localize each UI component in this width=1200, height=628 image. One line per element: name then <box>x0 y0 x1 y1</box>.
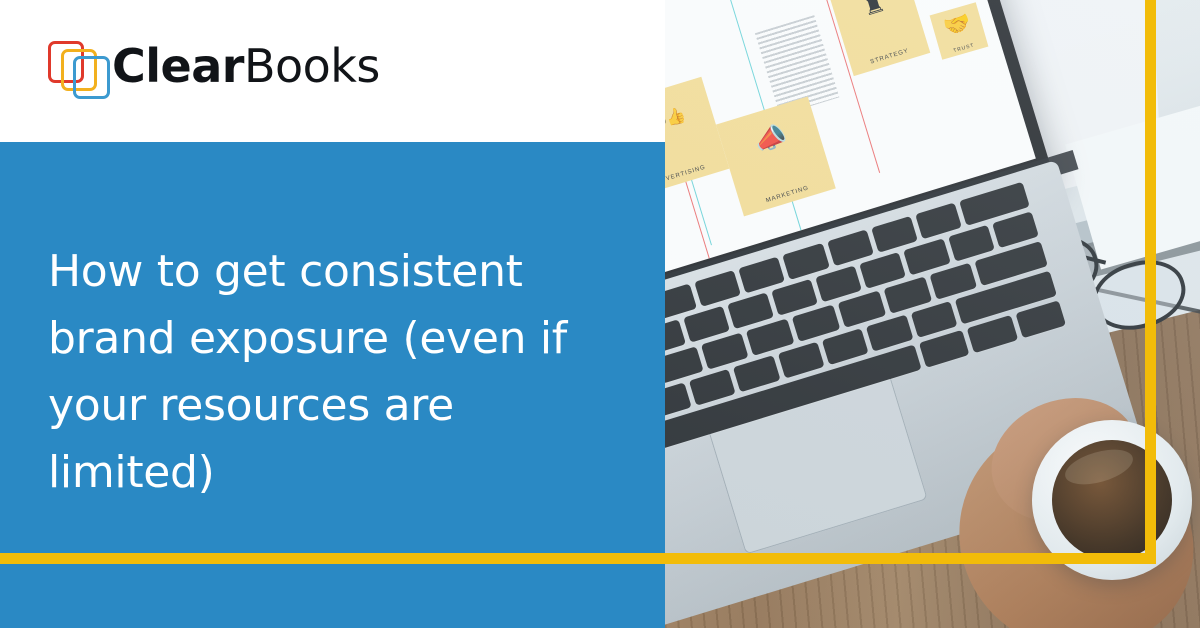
headline-line-1: How to get consistent <box>48 238 628 305</box>
logo-wordmark-primary: Clear <box>112 39 244 93</box>
photo-color-overlay <box>660 0 1200 628</box>
clearbooks-logo[interactable]: ClearBooks <box>42 38 380 94</box>
stacked-cards-logo-icon <box>42 38 104 94</box>
yellow-horizontal-rule <box>0 553 1156 564</box>
logo-wordmark: ClearBooks <box>112 43 380 89</box>
yellow-vertical-rule <box>1145 0 1156 564</box>
header-bar: ClearBooks <box>0 0 665 142</box>
social-share-card: BRAND CLICK ✉ IDENTITY AD👍 ADVERTISING 📣… <box>0 0 1200 628</box>
headline-line-3: your resources are limited) <box>48 372 628 506</box>
headline-line-2: brand exposure (even if <box>48 305 628 372</box>
hero-photo: BRAND CLICK ✉ IDENTITY AD👍 ADVERTISING 📣… <box>660 0 1200 628</box>
logo-card-blue <box>73 56 110 99</box>
page-title: How to get consistent brand exposure (ev… <box>48 238 628 506</box>
logo-wordmark-secondary: Books <box>244 39 380 93</box>
